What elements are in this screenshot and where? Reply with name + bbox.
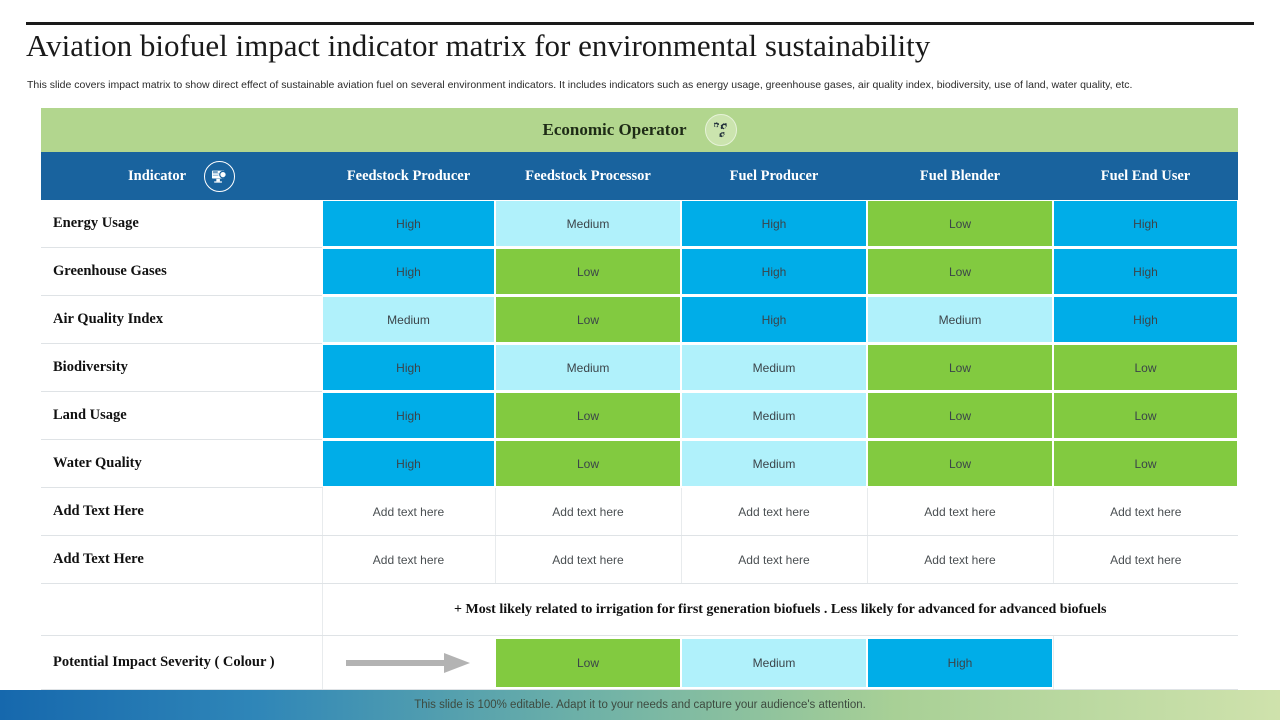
matrix-cell[interactable]: Add text here	[322, 536, 495, 584]
severity-legend-row: Potential Impact Severity ( Colour ) Low…	[41, 636, 1238, 690]
table-row: Air Quality Index Medium Low High Medium…	[41, 296, 1238, 344]
cell-value: Medium	[682, 393, 866, 438]
cell-value: Add text here	[324, 537, 494, 582]
matrix-cell[interactable]: High	[322, 200, 495, 248]
cell-value: High	[1054, 297, 1237, 342]
cell-value: Low	[1054, 345, 1237, 390]
severity-legend-empty	[1053, 636, 1238, 690]
row-indicator-label: Biodiversity	[41, 344, 322, 392]
table-row: Add Text Here Add text here Add text her…	[41, 536, 1238, 584]
matrix-cell[interactable]: Low	[1053, 392, 1238, 440]
gears-icon	[705, 114, 737, 146]
matrix-cell[interactable]: Low	[867, 248, 1053, 296]
footnote-cell: + Most likely related to irrigation for …	[322, 584, 1238, 636]
matrix-cell[interactable]: Add text here	[681, 536, 867, 584]
matrix-cell[interactable]: Add text here	[1053, 536, 1238, 584]
matrix-cell[interactable]: Low	[495, 392, 681, 440]
cell-value: Medium	[868, 297, 1052, 342]
monitor-search-icon	[204, 161, 235, 192]
cell-value: Low	[868, 441, 1052, 486]
impact-matrix-table: Economic Operator	[41, 108, 1238, 690]
matrix-cell[interactable]: Low	[867, 392, 1053, 440]
severity-legend-item[interactable]: Medium	[681, 636, 867, 690]
cell-value: High	[323, 345, 494, 390]
matrix-cell[interactable]: High	[322, 248, 495, 296]
column-header-label: Indicator	[128, 168, 186, 185]
cell-value: Medium	[682, 441, 866, 486]
column-header-fuel-blender: Fuel Blender	[867, 152, 1053, 200]
matrix-cell[interactable]: Medium	[681, 392, 867, 440]
arrow-cell	[322, 636, 495, 690]
cell-value: High	[682, 201, 866, 246]
matrix-cell[interactable]: High	[322, 440, 495, 488]
column-header-row: Indicator	[41, 152, 1238, 200]
cell-value: Low	[496, 441, 680, 486]
bottom-banner-text: This slide is 100% editable. Adapt it to…	[414, 699, 866, 711]
matrix-cell[interactable]: High	[681, 200, 867, 248]
matrix-cell[interactable]: High	[681, 296, 867, 344]
matrix-cell[interactable]: Low	[867, 344, 1053, 392]
cell-value: Add text here	[1055, 489, 1238, 534]
cell-value: High	[323, 393, 494, 438]
row-indicator-label: Water Quality	[41, 440, 322, 488]
cell-value: High	[323, 249, 494, 294]
column-header-feedstock-producer: Feedstock Producer	[322, 152, 495, 200]
matrix-cell[interactable]: High	[1053, 296, 1238, 344]
cell-value: Add text here	[683, 489, 866, 534]
row-indicator-label: Add Text Here	[41, 488, 322, 536]
matrix-cell[interactable]: Low	[1053, 344, 1238, 392]
column-header-feedstock-processor: Feedstock Processor	[495, 152, 681, 200]
matrix-cell[interactable]: Low	[867, 440, 1053, 488]
matrix-cell[interactable]: Medium	[867, 296, 1053, 344]
severity-legend-label-cell: Potential Impact Severity ( Colour )	[41, 636, 322, 690]
matrix-cell[interactable]: Add text here	[1053, 488, 1238, 536]
cell-value: High	[1054, 249, 1237, 294]
footnote-row: + Most likely related to irrigation for …	[41, 584, 1238, 636]
group-header-label: Economic Operator	[543, 120, 687, 140]
column-header-fuel-end-user: Fuel End User	[1053, 152, 1238, 200]
matrix-cell[interactable]: High	[1053, 248, 1238, 296]
cell-value: Medium	[323, 297, 494, 342]
group-header-row: Economic Operator	[41, 108, 1238, 152]
cell-value: Add text here	[869, 537, 1052, 582]
row-indicator-label: Land Usage	[41, 392, 322, 440]
cell-value: Medium	[682, 345, 866, 390]
cell-value: Add text here	[497, 489, 680, 534]
cell-value: Low	[868, 249, 1052, 294]
severity-legend-value: Medium	[682, 639, 866, 687]
cell-value: Low	[496, 393, 680, 438]
row-indicator-label: Energy Usage	[41, 200, 322, 248]
arrow-right-icon	[323, 636, 496, 689]
cell-value: Add text here	[324, 489, 494, 534]
bottom-banner: This slide is 100% editable. Adapt it to…	[0, 690, 1280, 720]
matrix-cell[interactable]: Add text here	[681, 488, 867, 536]
severity-legend-item[interactable]: High	[867, 636, 1053, 690]
cell-value: Medium	[496, 201, 680, 246]
table-row: Land Usage High Low Medium Low Low	[41, 392, 1238, 440]
row-indicator-label: Add Text Here	[41, 536, 322, 584]
cell-value: High	[323, 441, 494, 486]
cell-value: High	[682, 249, 866, 294]
matrix-cell[interactable]: Add text here	[867, 536, 1053, 584]
cell-value: High	[1054, 201, 1237, 246]
title-divider	[26, 22, 1254, 25]
table-row: Greenhouse Gases High Low High Low High	[41, 248, 1238, 296]
footnote-spacer	[41, 584, 322, 636]
cell-value: Low	[1054, 441, 1237, 486]
group-header-cell: Economic Operator	[41, 108, 1238, 152]
column-header-indicator: Indicator	[41, 152, 322, 200]
cell-value: Add text here	[869, 489, 1052, 534]
matrix-cell[interactable]: Medium	[495, 200, 681, 248]
matrix-cell[interactable]: Add text here	[495, 488, 681, 536]
matrix-cell[interactable]: Medium	[681, 440, 867, 488]
cell-value: Add text here	[1055, 537, 1238, 582]
matrix-cell[interactable]: Low	[495, 296, 681, 344]
cell-value: High	[323, 201, 494, 246]
matrix-cell[interactable]: High	[322, 344, 495, 392]
table-row: Water Quality High Low Medium Low Low	[41, 440, 1238, 488]
cell-value: Low	[1054, 393, 1237, 438]
matrix-cell[interactable]: Medium	[681, 344, 867, 392]
matrix-cell[interactable]: Add text here	[322, 488, 495, 536]
severity-legend-label: Potential Impact Severity ( Colour )	[41, 654, 322, 671]
row-indicator-label: Greenhouse Gases	[41, 248, 322, 296]
slide-root: Aviation biofuel impact indicator matrix…	[0, 0, 1280, 720]
table-row: Biodiversity High Medium Medium Low Low	[41, 344, 1238, 392]
matrix-cell[interactable]: Low	[495, 248, 681, 296]
cell-value: Low	[868, 393, 1052, 438]
footnote-text: + Most likely related to irrigation for …	[323, 602, 1239, 618]
cell-value: Medium	[496, 345, 680, 390]
cell-value: Low	[496, 249, 680, 294]
matrix-cell[interactable]: Add text here	[867, 488, 1053, 536]
slide-description: This slide covers impact matrix to show …	[27, 78, 1247, 92]
cell-value: Low	[868, 201, 1052, 246]
cell-value: Low	[496, 297, 680, 342]
matrix-cell[interactable]: High	[1053, 200, 1238, 248]
matrix-cell[interactable]: Medium	[495, 344, 681, 392]
matrix-cell[interactable]: High	[322, 392, 495, 440]
severity-legend-value: Low	[496, 639, 680, 687]
column-header-fuel-producer: Fuel Producer	[681, 152, 867, 200]
table-row: Energy Usage High Medium High Low High	[41, 200, 1238, 248]
matrix-cell[interactable]: High	[681, 248, 867, 296]
matrix-cell[interactable]: Medium	[322, 296, 495, 344]
matrix-cell[interactable]: Low	[1053, 440, 1238, 488]
matrix-cell[interactable]: Low	[495, 440, 681, 488]
severity-legend-item[interactable]: Low	[495, 636, 681, 690]
cell-value: High	[682, 297, 866, 342]
cell-value: Low	[868, 345, 1052, 390]
severity-legend-value: High	[868, 639, 1052, 687]
matrix-cell[interactable]: Add text here	[495, 536, 681, 584]
table-row: Add Text Here Add text here Add text her…	[41, 488, 1238, 536]
cell-value: Add text here	[683, 537, 866, 582]
matrix-cell[interactable]: Low	[867, 200, 1053, 248]
row-indicator-label: Air Quality Index	[41, 296, 322, 344]
page-title: Aviation biofuel impact indicator matrix…	[26, 26, 1246, 66]
cell-value: Add text here	[497, 537, 680, 582]
